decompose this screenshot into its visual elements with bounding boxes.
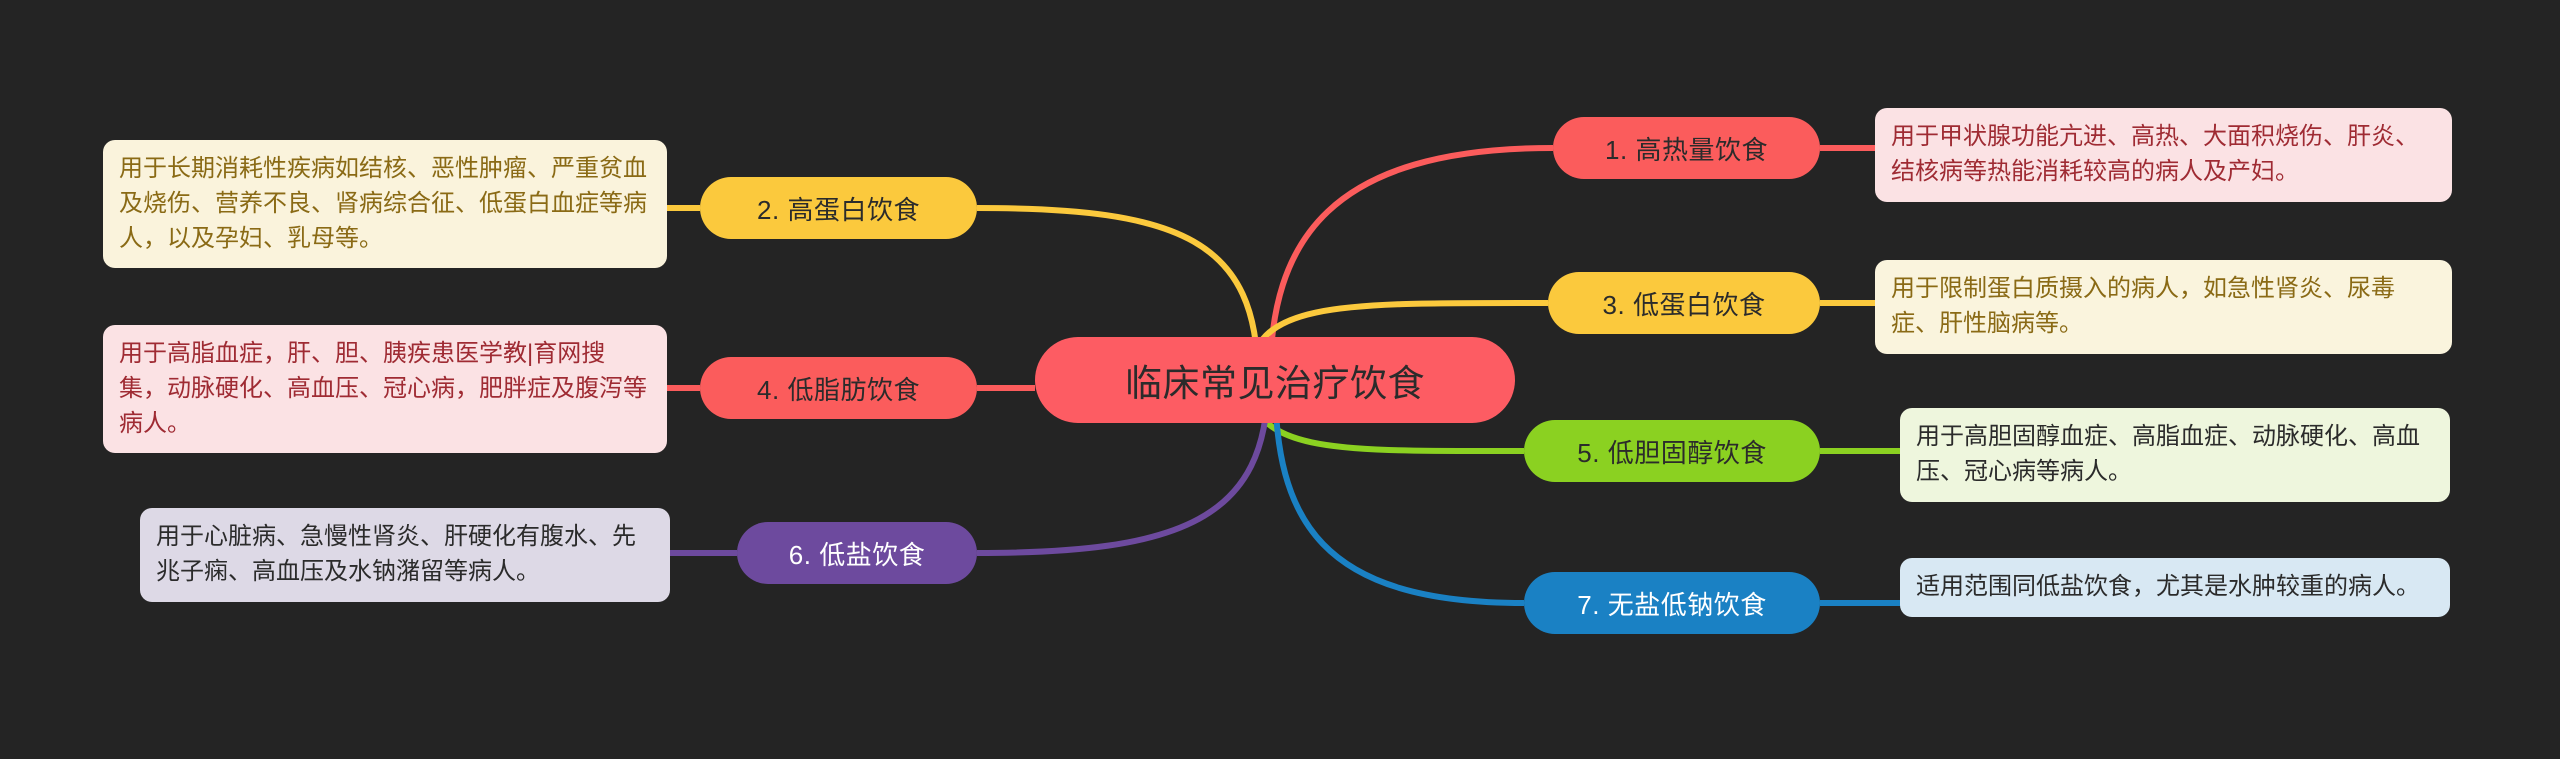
central-topic-node[interactable]: 临床常见治疗饮食 <box>1035 337 1515 423</box>
description-box-3: 用于限制蛋白质摄入的病人，如急性肾炎、尿毒症、肝性脑病等。 <box>1875 260 2452 354</box>
description-box-1: 用于甲状腺功能亢进、高热、大面积烧伤、肝炎、结核病等热能消耗较高的病人及产妇。 <box>1875 108 2452 202</box>
description-box-2: 用于长期消耗性疾病如结核、恶性肿瘤、严重贫血及烧伤、营养不良、肾病综合征、低蛋白… <box>103 140 667 268</box>
description-box-5: 用于高胆固醇血症、高脂血症、动脉硬化、高血压、冠心病等病人。 <box>1900 408 2450 502</box>
branch-node-2[interactable]: 2. 高蛋白饮食 <box>700 177 977 239</box>
branch-node-1[interactable]: 1. 高热量饮食 <box>1553 117 1820 179</box>
branch-node-3[interactable]: 3. 低蛋白饮食 <box>1548 272 1820 334</box>
description-box-4: 用于高脂血症，肝、胆、胰疾患医学教|育网搜集，动脉硬化、高血压、冠心病，肥胖症及… <box>103 325 667 453</box>
branch-node-4[interactable]: 4. 低脂肪饮食 <box>700 357 977 419</box>
branch-node-1-label: 1. 高热量饮食 <box>1605 130 1768 167</box>
branch-node-3-label: 3. 低蛋白饮食 <box>1603 285 1766 322</box>
mindmap-canvas: 临床常见治疗饮食 1. 高热量饮食 3. 低蛋白饮食 5. 低胆固醇饮食 7. … <box>0 0 2560 759</box>
central-topic-label: 临床常见治疗饮食 <box>1125 353 1425 407</box>
branch-node-6[interactable]: 6. 低盐饮食 <box>737 522 977 584</box>
branch-node-5-label: 5. 低胆固醇饮食 <box>1577 433 1766 470</box>
branch-node-5[interactable]: 5. 低胆固醇饮食 <box>1524 420 1820 482</box>
branch-node-4-label: 4. 低脂肪饮食 <box>757 370 920 407</box>
branch-node-2-label: 2. 高蛋白饮食 <box>757 190 920 227</box>
description-box-6: 用于心脏病、急慢性肾炎、肝硬化有腹水、先兆子痫、高血压及水钠潴留等病人。 <box>140 508 670 602</box>
description-box-7: 适用范围同低盐饮食，尤其是水肿较重的病人。 <box>1900 558 2450 617</box>
branch-node-6-label: 6. 低盐饮食 <box>789 535 925 572</box>
branch-node-7-label: 7. 无盐低钠饮食 <box>1577 585 1766 622</box>
branch-node-7[interactable]: 7. 无盐低钠饮食 <box>1524 572 1820 634</box>
